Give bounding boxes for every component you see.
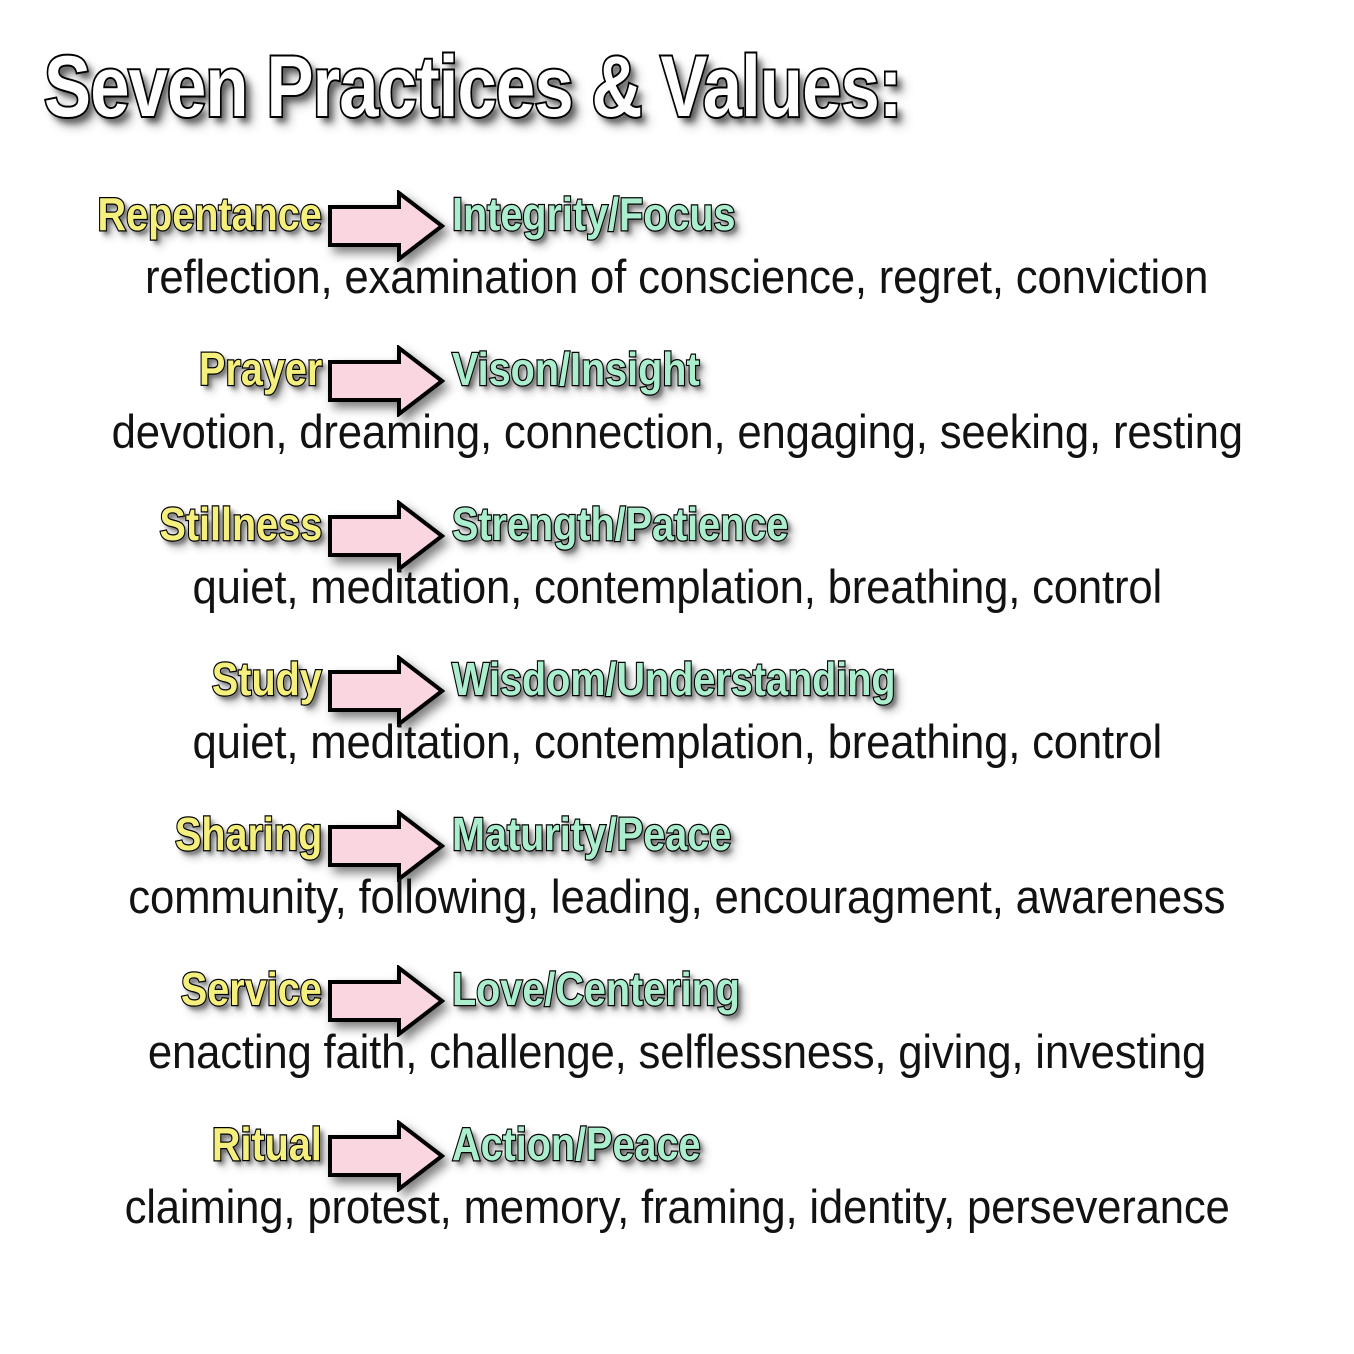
description-2: devotion, dreaming, connection, engaging…	[0, 403, 1354, 461]
list-item: Stillness Strength/Patience quiet, medit…	[0, 496, 1354, 651]
practice-label-7: Ritual	[212, 1116, 322, 1172]
practice-label-3: Stillness	[159, 496, 322, 552]
list-item: Study Wisdom/Understanding quiet, medita…	[0, 651, 1354, 806]
description-7: claiming, protest, memory, framing, iden…	[0, 1178, 1354, 1236]
list-item: Sharing Maturity/Peace community, follow…	[0, 806, 1354, 961]
practice-label-6: Service	[181, 961, 322, 1017]
value-label-7: Action/Peace	[452, 1116, 700, 1172]
slide-canvas: Seven Practices & Values: Repentance Int…	[0, 0, 1354, 1354]
practice-label-4: Study	[212, 651, 322, 707]
value-label-4: Wisdom/Understanding	[452, 651, 896, 707]
list-item: Prayer Vison/Insight devotion, dreaming,…	[0, 341, 1354, 496]
description-3: quiet, meditation, contemplation, breath…	[0, 558, 1354, 616]
list-item: Service Love/Centering enacting faith, c…	[0, 961, 1354, 1116]
value-label-1: Integrity/Focus	[452, 186, 736, 242]
practice-label-5: Sharing	[175, 806, 322, 862]
description-4: quiet, meditation, contemplation, breath…	[0, 713, 1354, 771]
page-title: Seven Practices & Values:	[44, 44, 902, 130]
value-label-5: Maturity/Peace	[452, 806, 731, 862]
description-5: community, following, leading, encouragm…	[0, 868, 1354, 926]
list-item: Repentance Integrity/Focus reflection, e…	[0, 186, 1354, 341]
practice-label-2: Prayer	[199, 341, 322, 397]
value-label-2: Vison/Insight	[452, 341, 700, 397]
description-6: enacting faith, challenge, selflessness,…	[0, 1023, 1354, 1081]
value-label-6: Love/Centering	[452, 961, 740, 1017]
value-label-3: Strength/Patience	[452, 496, 788, 552]
practice-value-list: Repentance Integrity/Focus reflection, e…	[0, 186, 1354, 1271]
practice-label-1: Repentance	[98, 186, 322, 242]
list-item: Ritual Action/Peace claiming, protest, m…	[0, 1116, 1354, 1271]
description-1: reflection, examination of conscience, r…	[0, 248, 1354, 306]
